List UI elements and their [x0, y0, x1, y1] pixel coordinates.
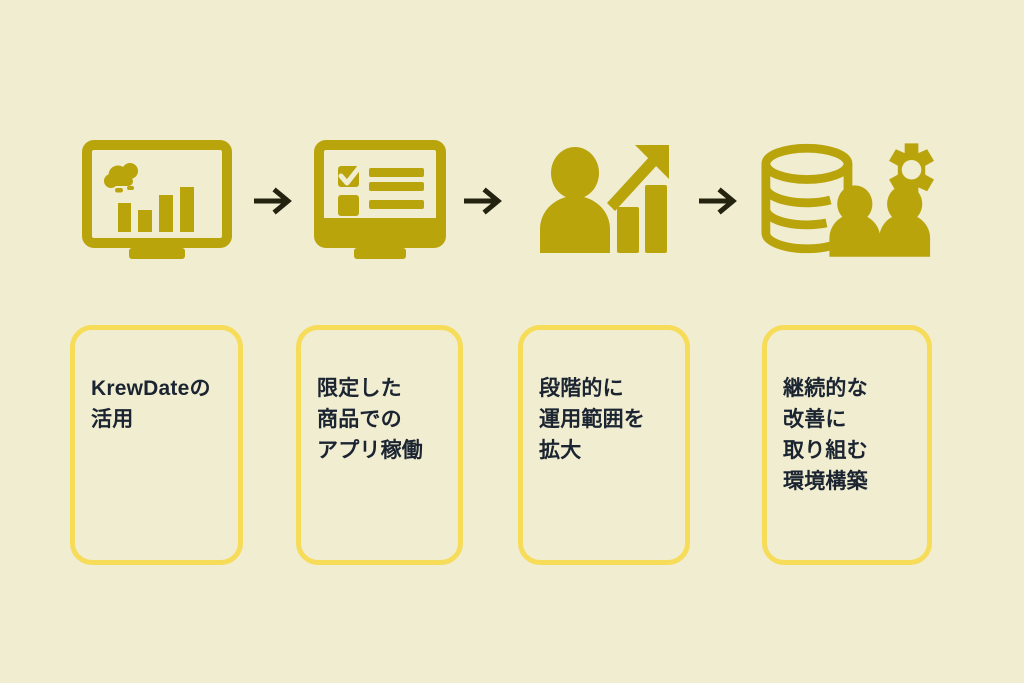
checkbox-empty-glyph [338, 195, 359, 216]
database-people-gear-icon [760, 140, 934, 262]
monitor-checklist-icon [314, 140, 446, 262]
flow-card-4-label: 継続的な 改善に 取り組む 環境構築 [783, 373, 919, 497]
flow-connector-2 [455, 128, 511, 273]
flow-card-2-label: 限定した 商品での アプリ稼働 [317, 373, 450, 466]
bar-chart-glyph [118, 187, 194, 232]
checkbox-checked-glyph [338, 164, 362, 187]
flow-card-3[interactable]: 段階的に 運用範囲を 拡大 [518, 325, 690, 565]
person-growth-chart-icon [535, 141, 675, 261]
process-flow-card-row: KrewDateの 活用 限定した 商品での アプリ稼働 段階的に 運用範囲を … [0, 325, 1024, 569]
person-glyph [829, 185, 880, 256]
process-flow-icon-row [0, 128, 1024, 273]
cloud-glyph [104, 163, 138, 193]
flow-step-1-icon [70, 128, 244, 273]
arrow-right-icon [462, 186, 504, 216]
flow-card-1-label: KrewDateの 活用 [91, 373, 230, 435]
flow-step-3-icon [518, 128, 692, 273]
flow-card-4[interactable]: 継続的な 改善に 取り組む 環境構築 [762, 325, 932, 565]
flow-card-2[interactable]: 限定した 商品での アプリ稼働 [296, 325, 463, 565]
arrow-right-icon [252, 186, 294, 216]
flow-connector-1 [245, 128, 301, 273]
flow-connector-3 [690, 128, 746, 273]
person-glyph [879, 185, 930, 256]
monitor-cloud-bar-chart-icon [82, 140, 232, 262]
flow-card-1[interactable]: KrewDateの 活用 [70, 325, 243, 565]
flow-step-4-icon [760, 128, 934, 273]
flow-step-2-icon [296, 128, 464, 273]
flow-card-3-label: 段階的に 運用範囲を 拡大 [539, 373, 677, 466]
person-glyph [540, 147, 610, 253]
slide-canvas: KrewDateの 活用 限定した 商品での アプリ稼働 段階的に 運用範囲を … [0, 0, 1024, 683]
arrow-right-icon [697, 186, 739, 216]
